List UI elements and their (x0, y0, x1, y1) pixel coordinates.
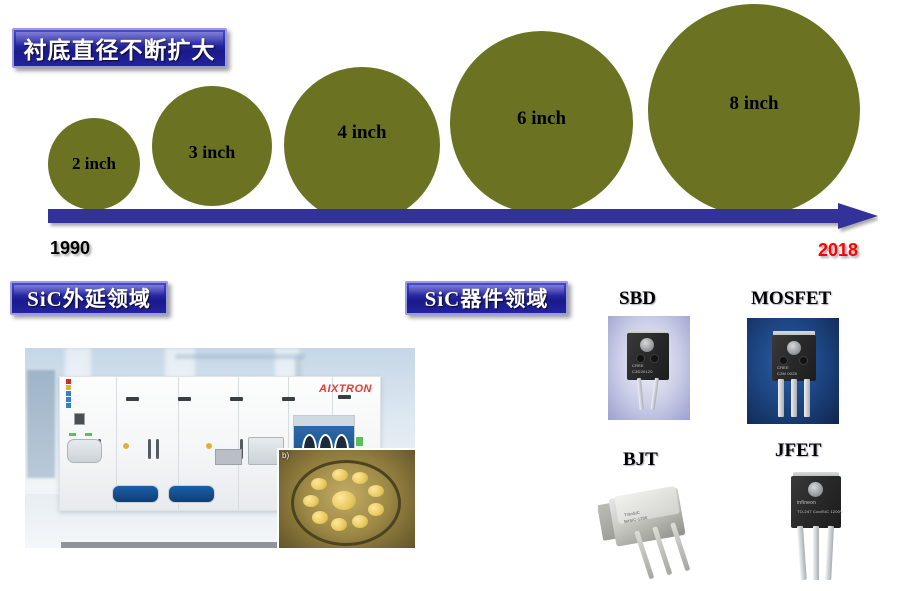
package-marking-dot (799, 356, 808, 365)
door-handle[interactable] (338, 395, 351, 399)
indicator-green (69, 433, 76, 436)
wafer-circle-4inch: 4 inch (284, 67, 440, 223)
device-section-banner: SiC器件领域 (405, 281, 568, 315)
device-title-bjt: BJT (623, 449, 658, 471)
wafer-label: 4 inch (337, 122, 386, 144)
timeline-end-year: 2018 (818, 240, 858, 261)
wall-panel (27, 370, 55, 478)
ceiling-pipe (175, 354, 305, 359)
wafer-label: 2 inch (72, 154, 116, 174)
wafer-label: 3 inch (189, 142, 236, 163)
indicator-green (85, 433, 92, 436)
vertical-handle[interactable] (156, 439, 159, 459)
device-lead (797, 526, 807, 580)
vertical-handle[interactable] (148, 439, 151, 459)
susceptor-wafer (303, 495, 319, 507)
indicator-amber (123, 443, 129, 449)
device-lead (637, 378, 644, 410)
susceptor-wafer (368, 485, 384, 497)
device-lead (778, 379, 784, 417)
package-marking-line1: CREE (632, 363, 644, 368)
title-banner: 衬底直径不断扩大 (12, 28, 227, 68)
device-photo-bjt: TranSiC BitSiC-1206 (598, 473, 716, 585)
susceptor-wafer (368, 503, 384, 516)
mounting-hole (808, 482, 823, 497)
door-handle[interactable] (178, 397, 191, 401)
inset-label: b) (282, 451, 289, 460)
device-photo-jfet: infineon TO-247 CoolSiC 1200V (771, 466, 863, 584)
loadport-panel[interactable] (168, 485, 215, 503)
device-lead (825, 526, 834, 580)
device-section-label: SiC器件领域 (425, 283, 549, 313)
epitaxy-equipment-photo: AIXTRON b) (25, 348, 415, 548)
package-marking-line1: infineon (797, 500, 816, 506)
loadport-panel[interactable] (112, 485, 159, 503)
wafer-circle-6inch: 6 inch (450, 31, 633, 214)
device-title-sbd: SBD (619, 288, 656, 310)
wafer-label: 6 inch (517, 108, 566, 130)
indicator-amber (206, 443, 212, 449)
door-handle[interactable] (126, 397, 139, 401)
device-title-mosfet: MOSFET (751, 288, 831, 310)
door-handle[interactable] (230, 397, 243, 401)
device-lead (651, 378, 659, 410)
aixtron-logo: AIXTRON (319, 383, 372, 395)
status-light-blue (66, 403, 71, 408)
control-window (67, 439, 102, 463)
device-title-jfet: JFET (775, 440, 821, 462)
susceptor-wafer (352, 515, 368, 528)
slide-canvas: 衬底直径不断扩大 2 inch 3 inch 4 inch 6 inch 8 i… (0, 0, 917, 591)
package-marking-dot (779, 356, 788, 365)
device-lead (791, 379, 797, 417)
device-photo-mosfet: CREE C2M 0025 (747, 318, 839, 424)
package-marking-dot (636, 354, 645, 363)
susceptor-wafer (312, 511, 328, 524)
device-lead (813, 526, 819, 580)
package-marking-dot (650, 354, 659, 363)
package-marking-line2: C3D20120 (632, 369, 653, 374)
status-light-amber (66, 385, 71, 390)
device-lead (804, 379, 810, 417)
susceptor-wafer (352, 472, 368, 484)
wafer-circle-2inch: 2 inch (48, 118, 140, 210)
susceptor-inset-photo: b) (277, 448, 415, 548)
door-handle[interactable] (282, 397, 295, 401)
mounting-hole (640, 338, 654, 352)
package-marking-line1: CREE (777, 365, 789, 370)
mounting-hole (787, 341, 801, 355)
operator-display[interactable] (215, 449, 242, 465)
epitaxy-section-label: SiC外延领域 (27, 283, 151, 313)
status-light-blue (66, 397, 71, 402)
planetary-susceptor (291, 460, 401, 546)
title-banner-label: 衬底直径不断扩大 (24, 31, 216, 65)
status-light-blue (66, 391, 71, 396)
timeline-start-year: 1990 (50, 238, 90, 259)
screen-header (294, 416, 354, 426)
small-display (74, 413, 85, 425)
status-light-red (66, 379, 71, 384)
timeline-arrow-icon (48, 203, 878, 235)
indicator-green (356, 437, 363, 446)
susceptor-wafer (332, 491, 356, 510)
susceptor-wafer (331, 518, 347, 531)
wafer-circle-3inch: 3 inch (152, 86, 272, 206)
package-marking-line2: TO-247 CoolSiC 1200V (797, 509, 843, 514)
wafer-label: 8 inch (729, 93, 778, 115)
susceptor-wafer (332, 469, 348, 481)
package-marking-line2: C2M 0025 (777, 371, 797, 376)
susceptor-wafer (311, 478, 327, 490)
epitaxy-section-banner: SiC外延领域 (10, 281, 168, 315)
wafer-circle-8inch: 8 inch (648, 4, 860, 216)
device-photo-sbd: CREE C3D20120 (608, 316, 690, 420)
